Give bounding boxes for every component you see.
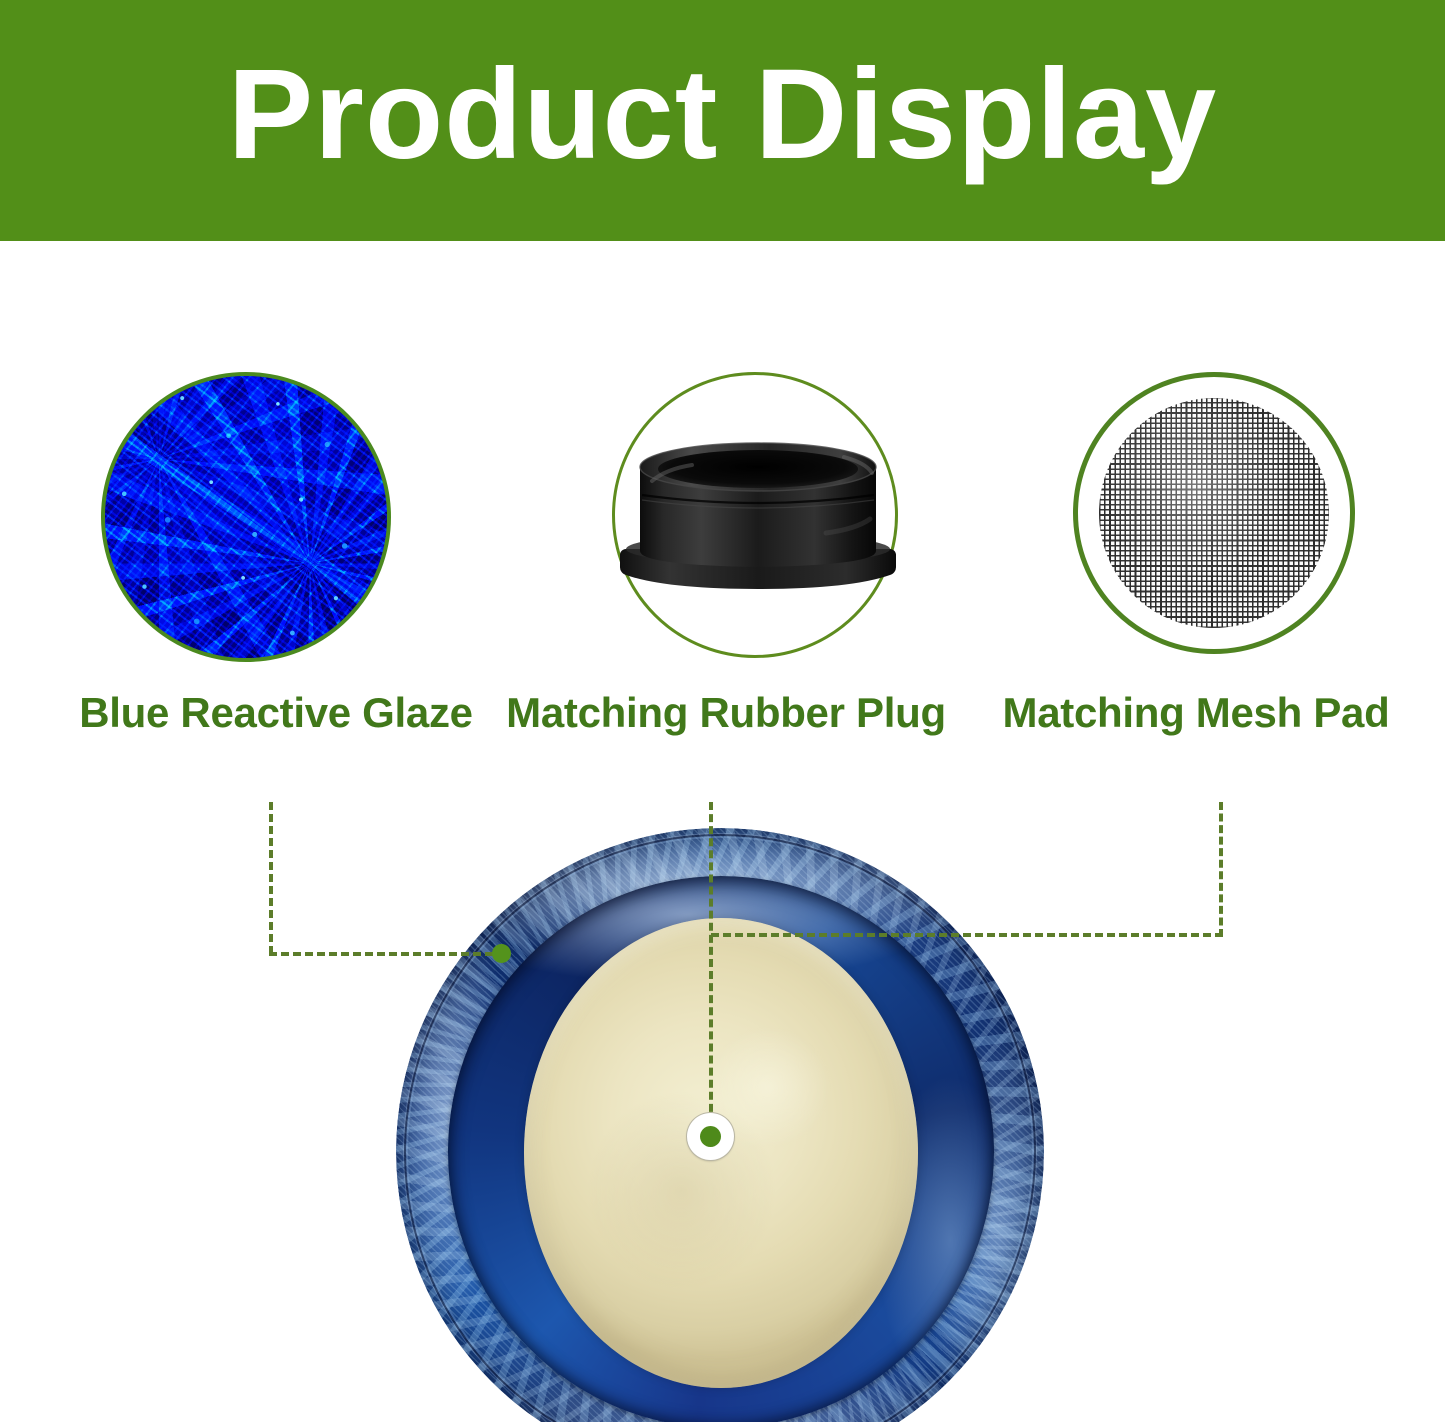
- feature-label-matching-mesh-pad: Matching Mesh Pad: [986, 688, 1406, 738]
- callout-line-mesh-horizontal: [711, 933, 1223, 937]
- feature-label-matching-rubber-plug: Matching Rubber Plug: [500, 688, 952, 738]
- glaze-swatch-circle: [101, 372, 391, 662]
- feature-blue-reactive-glaze: [101, 372, 391, 662]
- feature-label-blue-reactive-glaze: Blue Reactive Glaze: [66, 688, 486, 738]
- page-title: Product Display: [228, 51, 1217, 179]
- callout-dot-plug: [700, 1126, 721, 1147]
- rubber-plug-icon: [608, 437, 908, 607]
- rubber-plug-svg: [608, 437, 908, 607]
- feature-matching-mesh-pad: [1073, 372, 1355, 654]
- feature-matching-rubber-plug: [612, 372, 898, 658]
- header-banner: Product Display: [0, 0, 1445, 241]
- product-display-infographic: Product Display: [0, 0, 1445, 1422]
- callout-line-mesh-vertical: [1219, 802, 1223, 937]
- callout-line-plug-vertical: [709, 802, 713, 1136]
- callout-dot-glaze: [492, 944, 511, 963]
- blue-glaze-texture-icon: [101, 372, 391, 662]
- callout-line-glaze-vertical: [269, 802, 273, 954]
- callout-line-glaze-horizontal: [269, 952, 505, 956]
- rubber-plug-circle: [612, 372, 898, 658]
- wire-mesh-icon: [1099, 398, 1329, 628]
- plug-bore: [658, 450, 858, 488]
- mesh-pad-circle: [1073, 372, 1355, 654]
